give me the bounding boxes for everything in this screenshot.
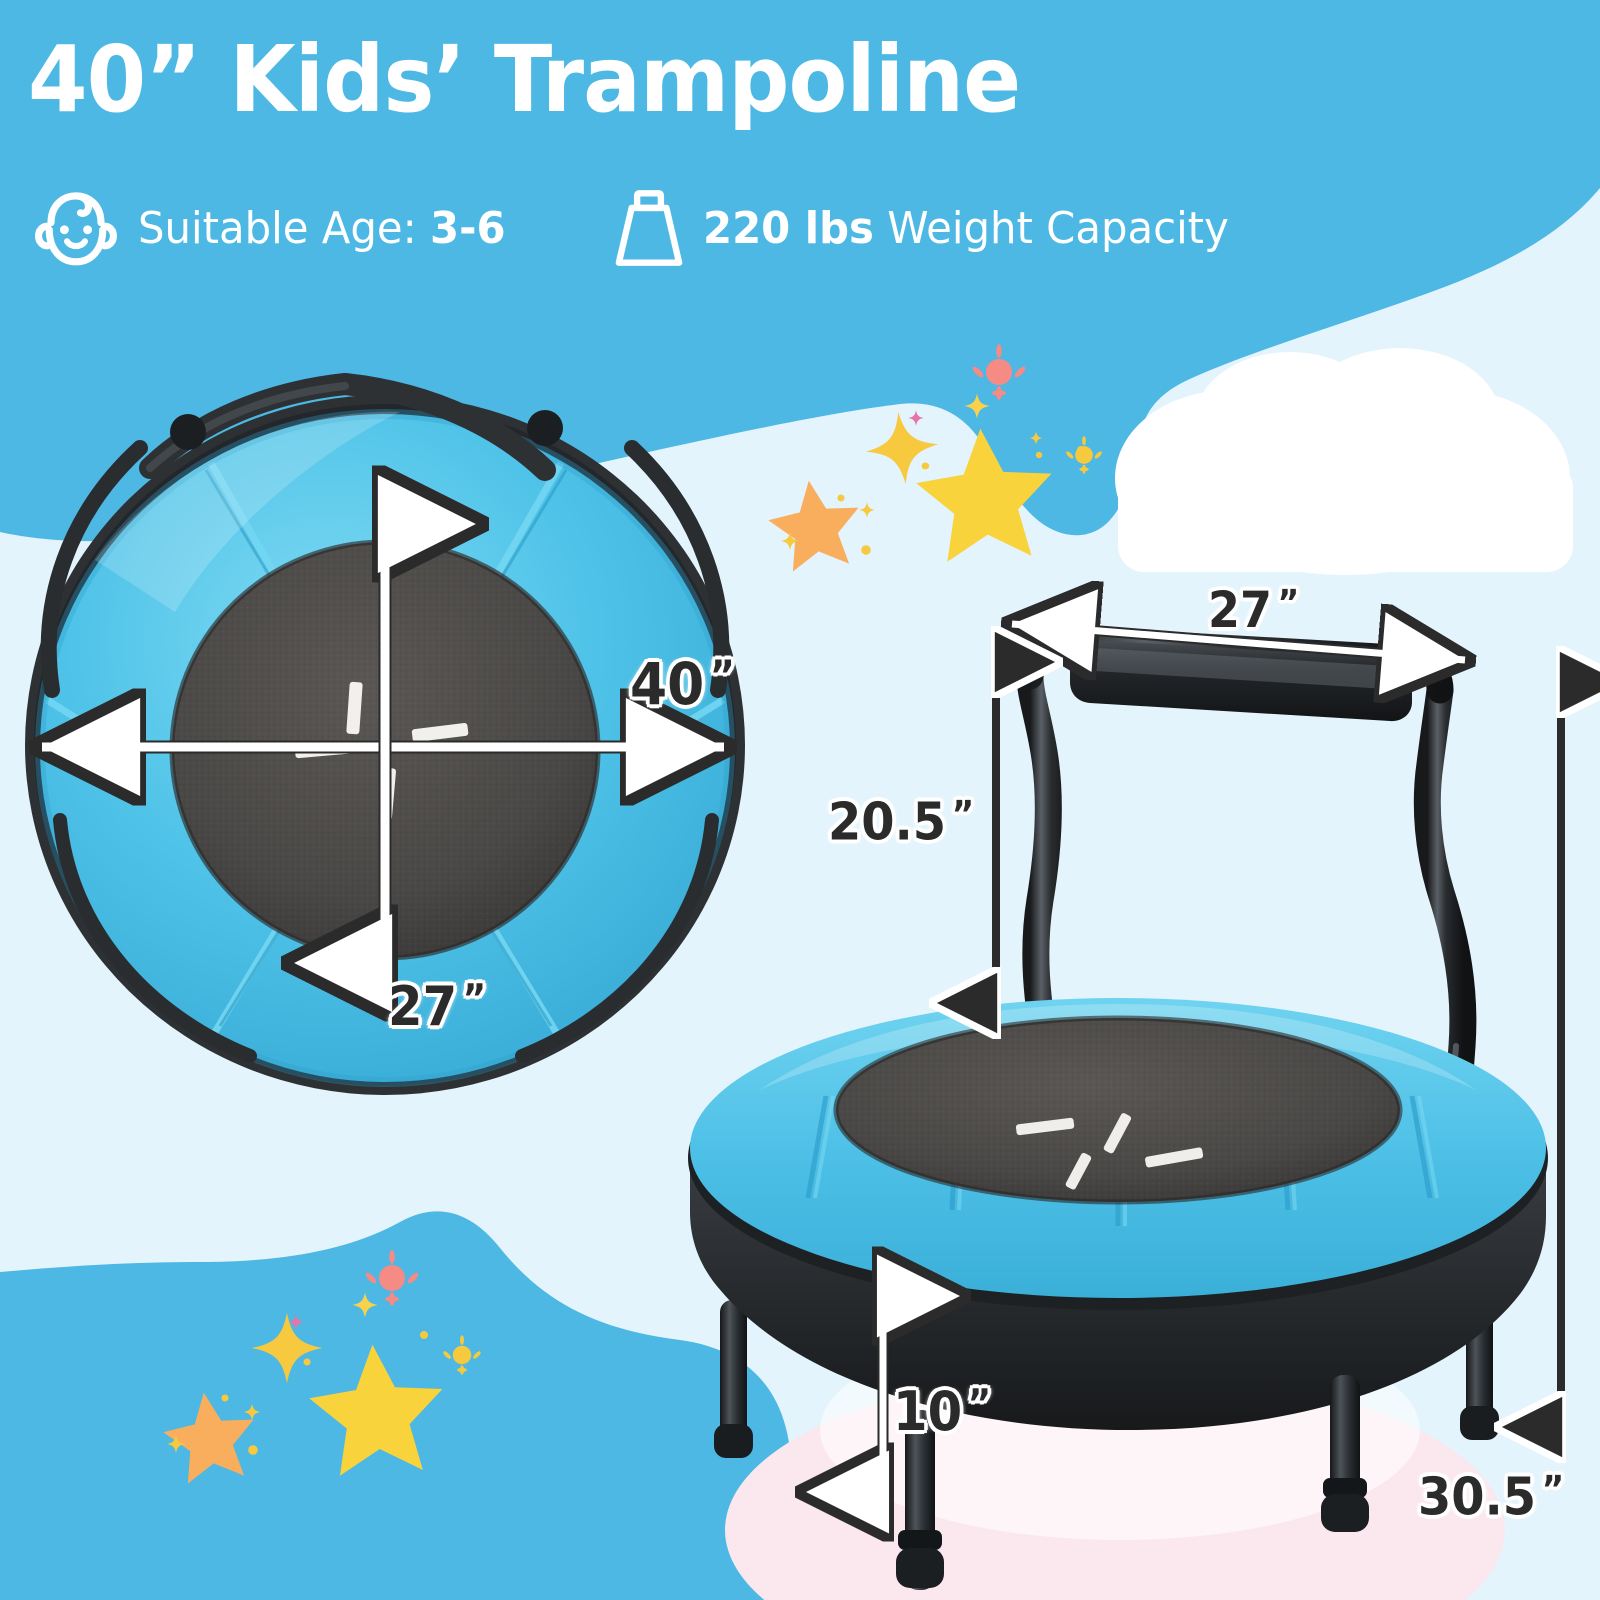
dim-40-unit: ” [710, 651, 733, 700]
dim-label-40in: 40” [630, 650, 733, 718]
dim-305-unit: ” [1542, 1467, 1563, 1511]
dim-305-value: 30.5 [1418, 1468, 1536, 1528]
dim-label-27in-mat: 27” [388, 975, 484, 1038]
dim-205-unit: ” [952, 792, 973, 836]
dim-label-305in: 30.5” [1418, 1467, 1562, 1528]
dim-27a-unit: ” [463, 977, 485, 1022]
dim-40-value: 40 [630, 650, 704, 718]
dim-label-27in-handlebar: 27” [1208, 581, 1297, 639]
dim-10-value: 10 [893, 1380, 962, 1443]
dimension-arrows [0, 0, 1600, 1600]
dim-205-value: 20.5 [828, 793, 946, 853]
dim-label-205in: 20.5” [828, 792, 972, 853]
dim-10-unit: ” [968, 1382, 990, 1427]
dim-label-10in: 10” [893, 1380, 989, 1443]
dim-27b-value: 27 [1208, 581, 1272, 639]
dim-27a-value: 27 [388, 975, 457, 1038]
infographic-canvas: 40” Kids’ Trampoline [0, 0, 1600, 1600]
dim-27b-unit: ” [1278, 583, 1298, 624]
